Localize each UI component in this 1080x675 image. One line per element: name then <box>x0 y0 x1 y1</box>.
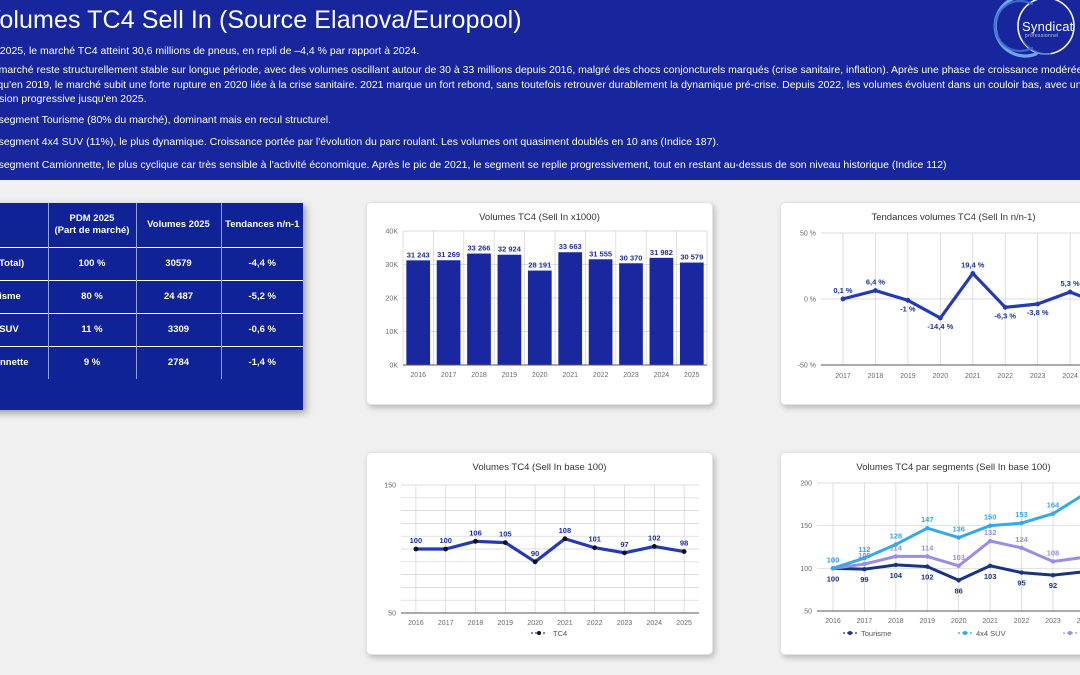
data-point <box>988 539 992 543</box>
cell-segment: Camionnette <box>0 346 48 379</box>
data-point <box>592 545 597 550</box>
chart-plot-segments: 5015020010020162017201820192020202120222… <box>781 473 1080 653</box>
chart-title-tendances: Tendances volumes TC4 (Sell In n/n-1) <box>781 212 1080 223</box>
data-point-label: 104 <box>890 571 903 580</box>
data-point-label: -3,8 % <box>1027 308 1049 317</box>
data-point-label: 164 <box>1047 501 1060 510</box>
data-point-label: 106 <box>469 528 482 537</box>
y-tick-label: 30K <box>386 262 399 269</box>
data-point-label: 0,1 % <box>833 286 853 295</box>
x-tick-label: 2019 <box>919 618 935 625</box>
data-point <box>862 567 866 571</box>
bar-value-label: 28 191 <box>528 261 551 270</box>
bar <box>680 263 704 365</box>
data-point-label: 90 <box>531 549 539 558</box>
x-tick-label: 2016 <box>408 620 424 627</box>
cell-tendance: -4,4 % <box>221 247 303 280</box>
chart-title-volumes-bar: Volumes TC4 (Sell In x1000) <box>367 212 712 223</box>
data-point-label: 97 <box>620 540 628 549</box>
x-tick-label: 2022 <box>1014 618 1030 625</box>
x-tick-label: 2021 <box>557 620 573 627</box>
data-point-label: 153 <box>1015 510 1028 519</box>
data-point-label: 114 <box>921 543 934 552</box>
banner-body: En 2025, le marché TC4 atteint 30,6 mill… <box>0 44 1080 180</box>
bar <box>528 271 552 365</box>
trend-line-chart-svg: -50 %0 %50 %2017201820192020202120222023… <box>781 223 1080 403</box>
market-summary-table: PDM 2025 (Part de marché) Volumes 2025 T… <box>0 203 303 379</box>
chart-legend: TC4 <box>531 629 567 638</box>
data-point <box>1051 512 1055 516</box>
x-tick-label: 2020 <box>532 372 548 379</box>
bar-value-label: 31 243 <box>407 250 430 259</box>
bar-value-label: 31 982 <box>650 248 673 257</box>
data-point <box>988 523 992 527</box>
x-tick-label: 2025 <box>676 620 692 627</box>
cell-tendance: -5,2 % <box>221 280 303 313</box>
data-point-label: 136 <box>952 525 965 534</box>
y-tick-label: 150 <box>384 483 396 490</box>
data-point-label: 124 <box>1015 535 1028 544</box>
x-tick-label: 2018 <box>888 618 904 625</box>
data-point <box>1035 302 1040 307</box>
data-point <box>1019 521 1023 525</box>
y-tick-label: 0K <box>389 363 398 370</box>
y-tick-label: 50 % <box>800 231 816 238</box>
bar-value-label: 33 266 <box>468 244 491 253</box>
data-point-label: 98 <box>680 539 688 548</box>
data-point <box>988 564 992 568</box>
data-point <box>831 566 835 570</box>
y-tick-label: 40K <box>386 229 399 236</box>
chart-card-segments: Volumes TC4 par segments (Sell In base 1… <box>780 452 1080 655</box>
data-point <box>873 288 878 293</box>
data-point-label: 132 <box>984 528 997 537</box>
bar <box>498 255 522 365</box>
cell-pdm: 9 % <box>48 346 136 379</box>
bar <box>589 259 613 365</box>
th-segment <box>0 203 48 247</box>
data-point-label: 102 <box>921 573 934 582</box>
x-tick-label: 2018 <box>471 372 487 379</box>
banner-bullet-2: Le segment 4x4 SUV (11%), le plus dynami… <box>0 135 1080 149</box>
base100-line-chart-svg: 5015020162017201820192020202120222023202… <box>367 473 713 653</box>
data-point <box>652 544 657 549</box>
data-point-label: 108 <box>559 526 572 535</box>
bar-value-label: 31 269 <box>437 250 460 259</box>
cell-segment: 4x4 SUV <box>0 313 48 346</box>
data-point <box>443 547 448 552</box>
banner-paragraph-2: Le marché reste structurellement stable … <box>0 63 1080 77</box>
x-tick-label: 2018 <box>468 620 484 627</box>
x-tick-label: 2017 <box>835 373 851 380</box>
banner-paragraph-4: érosion progressive jusqu'en 2025. <box>0 92 1080 106</box>
x-tick-label: 2020 <box>527 620 543 627</box>
th-pdm-line1: PDM 2025 <box>70 213 115 224</box>
bar <box>558 252 582 365</box>
table-row: 4x4 SUV 11 % 3309 -0,6 % <box>0 313 303 346</box>
data-point-label: 99 <box>860 575 868 584</box>
data-point-label: 92 <box>1049 581 1057 590</box>
table-row: Tourisme 80 % 24 487 -5,2 % <box>0 280 303 313</box>
bar-value-label: 30 370 <box>620 253 643 262</box>
data-point <box>1068 290 1073 295</box>
bar-chart-svg: 0K10K20K30K40K31 243201631 269201733 266… <box>367 223 713 403</box>
data-point-label: -14,4 % <box>927 322 953 331</box>
cell-volumes: 24 487 <box>136 280 221 313</box>
data-point <box>1051 573 1055 577</box>
bar <box>437 260 461 365</box>
segments-line-chart-svg: 5015020010020162017201820192020202120222… <box>781 473 1080 653</box>
bar <box>406 260 430 365</box>
data-point <box>473 539 478 544</box>
chart-title-base100: Volumes TC4 (Sell In base 100) <box>367 462 712 473</box>
data-point <box>956 564 960 568</box>
chart-plot-tendances: -50 %0 %50 %2017201820192020202120222023… <box>781 223 1080 403</box>
x-tick-label: 2019 <box>502 372 518 379</box>
data-point-label: 100 <box>827 574 840 583</box>
chart-title-segments: Volumes TC4 par segments (Sell In base 1… <box>781 462 1080 473</box>
data-point <box>925 564 929 568</box>
cell-segment: Tourisme <box>0 280 48 313</box>
bar-value-label: 32 924 <box>498 245 522 254</box>
data-point <box>1051 559 1055 563</box>
data-point <box>862 556 866 560</box>
header-banner: Volumes TC4 Sell In (Source Elanova/Euro… <box>0 0 1080 180</box>
x-tick-label: 2024 <box>647 620 663 627</box>
bar-value-label: 30 579 <box>680 253 703 262</box>
data-point <box>1019 570 1023 574</box>
bar <box>650 258 674 365</box>
x-tick-label: 2020 <box>933 373 949 380</box>
y-tick-label: 100 <box>800 566 812 573</box>
data-point-label: 100 <box>439 536 452 545</box>
legend-label-tc4: TC4 <box>553 629 567 638</box>
data-point-label: 86 <box>955 586 963 595</box>
th-tendances: Tendances n/n-1 <box>221 203 303 247</box>
x-tick-label: 2017 <box>438 620 454 627</box>
table-row: TC4 (Total) 100 % 30579 -4,4 % <box>0 247 303 280</box>
data-point-label: 112 <box>858 545 870 554</box>
series-line-tourisme <box>833 565 1080 580</box>
bar <box>467 254 491 365</box>
bar <box>619 263 643 365</box>
x-tick-label: 2024 <box>654 372 670 379</box>
data-point <box>925 526 929 530</box>
bar-value-label: 31 555 <box>589 249 612 258</box>
data-point <box>414 547 419 552</box>
legend-marker <box>537 631 541 635</box>
data-point-label: -1 % <box>900 304 916 313</box>
data-point-label: 100 <box>410 536 423 545</box>
x-tick-label: 2024 <box>1077 618 1080 625</box>
y-tick-label: 20K <box>386 296 399 303</box>
x-tick-label: 2017 <box>441 372 457 379</box>
x-tick-label: 2024 <box>1062 373 1078 380</box>
chart-plot-volumes-bar: 0K10K20K30K40K31 243201631 269201733 266… <box>367 223 712 403</box>
y-tick-label: 0 % <box>804 297 816 304</box>
data-point <box>503 540 508 545</box>
data-point <box>841 296 846 301</box>
table-row: Camionnette 9 % 2784 -1,4 % <box>0 346 303 379</box>
logo-subtitle: professionnel <box>1025 33 1059 39</box>
data-point <box>533 559 538 564</box>
x-tick-label: 2021 <box>982 618 998 625</box>
cell-volumes: 2784 <box>136 346 221 379</box>
chart-card-base100: Volumes TC4 (Sell In base 100) 501502016… <box>366 452 713 655</box>
data-point-label: 19,4 % <box>961 260 985 269</box>
data-point-label: 147 <box>921 515 934 524</box>
legend-label-tourisme: Tourisme <box>861 629 891 638</box>
data-point-label: 105 <box>499 530 512 539</box>
table-body: TC4 (Total) 100 % 30579 -4,4 % Tourisme … <box>0 247 303 379</box>
x-tick-label: 2022 <box>587 620 603 627</box>
data-point <box>1019 546 1023 550</box>
legend-marker <box>1068 631 1072 635</box>
table-header-row: PDM 2025 (Part de marché) Volumes 2025 T… <box>0 203 303 247</box>
data-point <box>1003 305 1008 310</box>
cell-tendance: -0,6 % <box>221 313 303 346</box>
x-tick-label: 2022 <box>593 372 609 379</box>
data-point <box>622 550 627 555</box>
y-tick-label: 200 <box>800 481 812 488</box>
data-point <box>682 549 687 554</box>
data-point-label: 102 <box>648 533 661 542</box>
data-point <box>925 554 929 558</box>
cell-pdm: 100 % <box>48 247 136 280</box>
x-tick-label: 2021 <box>965 373 981 380</box>
x-tick-label: 2021 <box>562 372 578 379</box>
th-pdm: PDM 2025 (Part de marché) <box>48 203 136 247</box>
market-summary-table-card: PDM 2025 (Part de marché) Volumes 2025 T… <box>0 203 303 410</box>
x-tick-label: 2023 <box>1030 373 1046 380</box>
x-tick-label: 2019 <box>498 620 514 627</box>
data-point <box>956 535 960 539</box>
base100-line <box>416 539 684 562</box>
x-tick-label: 2018 <box>868 373 884 380</box>
data-point <box>894 563 898 567</box>
banner-bullet-3: Le segment Camionnette, le plus cyclique… <box>0 158 1080 172</box>
y-tick-label: -50 % <box>798 363 816 370</box>
data-point-label: -6,3 % <box>994 311 1016 320</box>
cell-pdm: 80 % <box>48 280 136 313</box>
banner-bullet-1: Le segment Tourisme (80% du marché), dom… <box>0 113 1080 127</box>
page-title: Volumes TC4 Sell In (Source Elanova/Euro… <box>0 6 522 35</box>
chart-card-tendances: Tendances volumes TC4 (Sell In n/n-1) -5… <box>780 202 1080 405</box>
data-point-label: 101 <box>588 535 601 544</box>
data-point <box>956 578 960 582</box>
banner-bullet-list: Le segment Tourisme (80% du marché), dom… <box>0 113 1080 172</box>
y-tick-label: 50 <box>388 611 396 618</box>
data-point <box>563 536 568 541</box>
banner-paragraph-3: jusqu'en 2019, le marché subit une forte… <box>0 78 1080 92</box>
bar-value-label: 33 663 <box>559 242 582 251</box>
data-point-label: 5,3 % <box>1061 279 1080 288</box>
x-tick-label: 2023 <box>623 372 639 379</box>
data-point-label: 103 <box>952 553 965 562</box>
y-tick-label: 10K <box>386 329 399 336</box>
x-tick-label: 2016 <box>410 372 426 379</box>
chart-card-volumes-bar: Volumes TC4 (Sell In x1000) 0K10K20K30K4… <box>366 202 713 405</box>
data-point-label: 150 <box>984 513 997 522</box>
x-tick-label: 2019 <box>900 373 916 380</box>
y-tick-label: 150 <box>800 523 812 530</box>
x-tick-label: 2017 <box>857 618 873 625</box>
data-point <box>894 542 898 546</box>
chart-plot-base100: 5015020162017201820192020202120222023202… <box>367 473 712 653</box>
data-point-label: 95 <box>1017 579 1025 588</box>
cell-pdm: 11 % <box>48 313 136 346</box>
table-head: PDM 2025 (Part de marché) Volumes 2025 T… <box>0 203 303 247</box>
x-tick-label: 2023 <box>1045 618 1061 625</box>
data-point <box>862 562 866 566</box>
th-pdm-line2: (Part de marché) <box>55 225 130 236</box>
cell-volumes: 30579 <box>136 247 221 280</box>
cell-segment: TC4 (Total) <box>0 247 48 280</box>
cell-volumes: 3309 <box>136 313 221 346</box>
x-tick-label: 2022 <box>997 373 1013 380</box>
syndicat-logo: Syndicat professionnel <box>990 0 1078 70</box>
data-point <box>905 298 910 303</box>
data-point-label: 128 <box>890 531 903 540</box>
cell-tendance: -1,4 % <box>221 346 303 379</box>
logo-text: Syndicat <box>1022 19 1073 34</box>
data-point <box>938 316 943 321</box>
data-point <box>894 554 898 558</box>
data-point-label: 103 <box>984 572 997 581</box>
y-tick-label: 50 <box>804 609 812 616</box>
legend-marker <box>848 631 852 635</box>
x-tick-label: 2020 <box>951 618 967 625</box>
x-tick-label: 2025 <box>684 372 700 379</box>
data-point-label: 100 <box>827 555 840 564</box>
legend-label-44suv: 4x4 SUV <box>976 629 1006 638</box>
legend-marker <box>963 631 967 635</box>
banner-paragraph-1: En 2025, le marché TC4 atteint 30,6 mill… <box>0 44 1080 58</box>
data-point-label: 108 <box>1047 549 1060 558</box>
x-tick-label: 2023 <box>617 620 633 627</box>
th-volumes: Volumes 2025 <box>136 203 221 247</box>
x-tick-label: 2016 <box>825 618 841 625</box>
data-point-label: 6,4 % <box>866 278 886 287</box>
data-point <box>970 271 975 276</box>
